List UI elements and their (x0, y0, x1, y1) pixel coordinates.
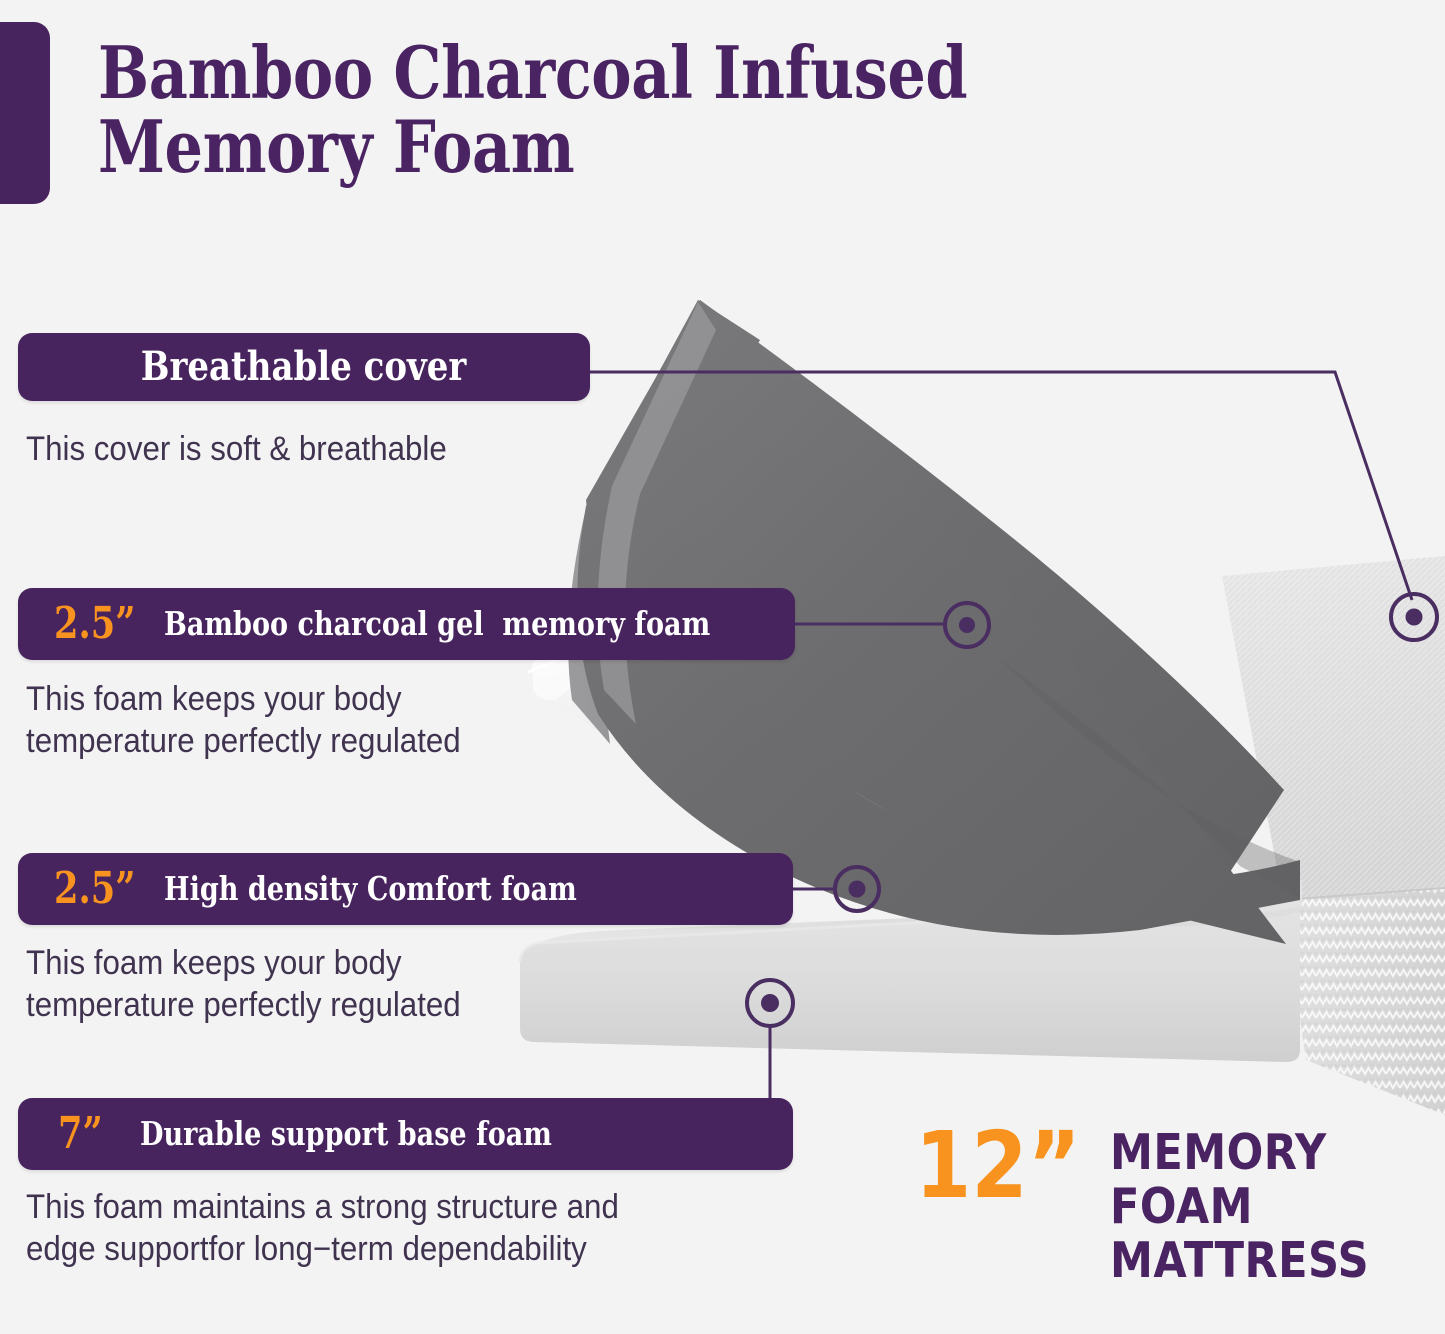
marker-comfort (835, 867, 879, 911)
leader-line-cover (590, 372, 1412, 600)
page-title: Bamboo Charcoal Infused Memory Foam (98, 36, 980, 184)
cover-top-texture (1222, 556, 1445, 900)
callout-badge-support-base-foam[interactable]: 7” Durable support base foam (18, 1098, 793, 1170)
cover-side-face (1283, 888, 1445, 1115)
product-thickness-lockup: 12” MEMORY FOAM MATTRESS (915, 1118, 1435, 1268)
charcoal-foam-left-highlight (598, 302, 716, 724)
callout-description-charcoal-gel-foam: This foam keeps your body temperature pe… (26, 678, 670, 762)
callout-badge-comfort-foam[interactable]: 2.5” High density Comfort foam (18, 853, 793, 925)
charcoal-foam-top-face (622, 300, 1284, 872)
callout-description-comfort-foam: This foam keeps your body temperature pe… (26, 942, 670, 1026)
callout-description-support-base-foam: This foam maintains a strong structure a… (26, 1186, 790, 1270)
header-accent-bar (0, 22, 50, 204)
callout-badge-charcoal-gel-foam[interactable]: 2.5” Bamboo charcoal gel memory foam (18, 588, 795, 660)
callout-label-breathable-cover: Breathable cover (141, 346, 467, 388)
cover-side-knit-texture (1283, 888, 1445, 1115)
leader-markers (747, 594, 1437, 1026)
callout-thickness-comfort-foam: 2.5” (54, 867, 135, 911)
leader-lines (590, 372, 1412, 1100)
marker-gel (945, 603, 989, 647)
breathable-cover-layer (1222, 556, 1445, 1115)
callout-thickness-charcoal-gel-foam: 2.5” (54, 602, 135, 646)
infographic-canvas: Bamboo Charcoal Infused Memory Foam (0, 0, 1445, 1334)
callout-description-breathable-cover: This cover is soft & breathable (26, 428, 725, 470)
callout-badge-breathable-cover[interactable]: Breathable cover (18, 333, 590, 401)
lockup-thickness-value: 12” (915, 1120, 1081, 1212)
callout-thickness-support-base-foam: 7” (58, 1112, 103, 1156)
callout-label-support-base-foam: Durable support base foam (140, 1116, 552, 1152)
callout-label-comfort-foam: High density Comfort foam (164, 871, 577, 907)
charcoal-foam-shadow (1000, 660, 1300, 898)
marker-base (747, 980, 793, 1026)
lockup-product-name: MEMORY FOAM MATTRESS (1110, 1126, 1396, 1288)
marker-cover (1391, 594, 1437, 640)
callout-label-charcoal-gel-foam: Bamboo charcoal gel memory foam (164, 606, 710, 642)
cover-seam-line (1283, 888, 1445, 900)
cover-top-face (1222, 556, 1445, 900)
